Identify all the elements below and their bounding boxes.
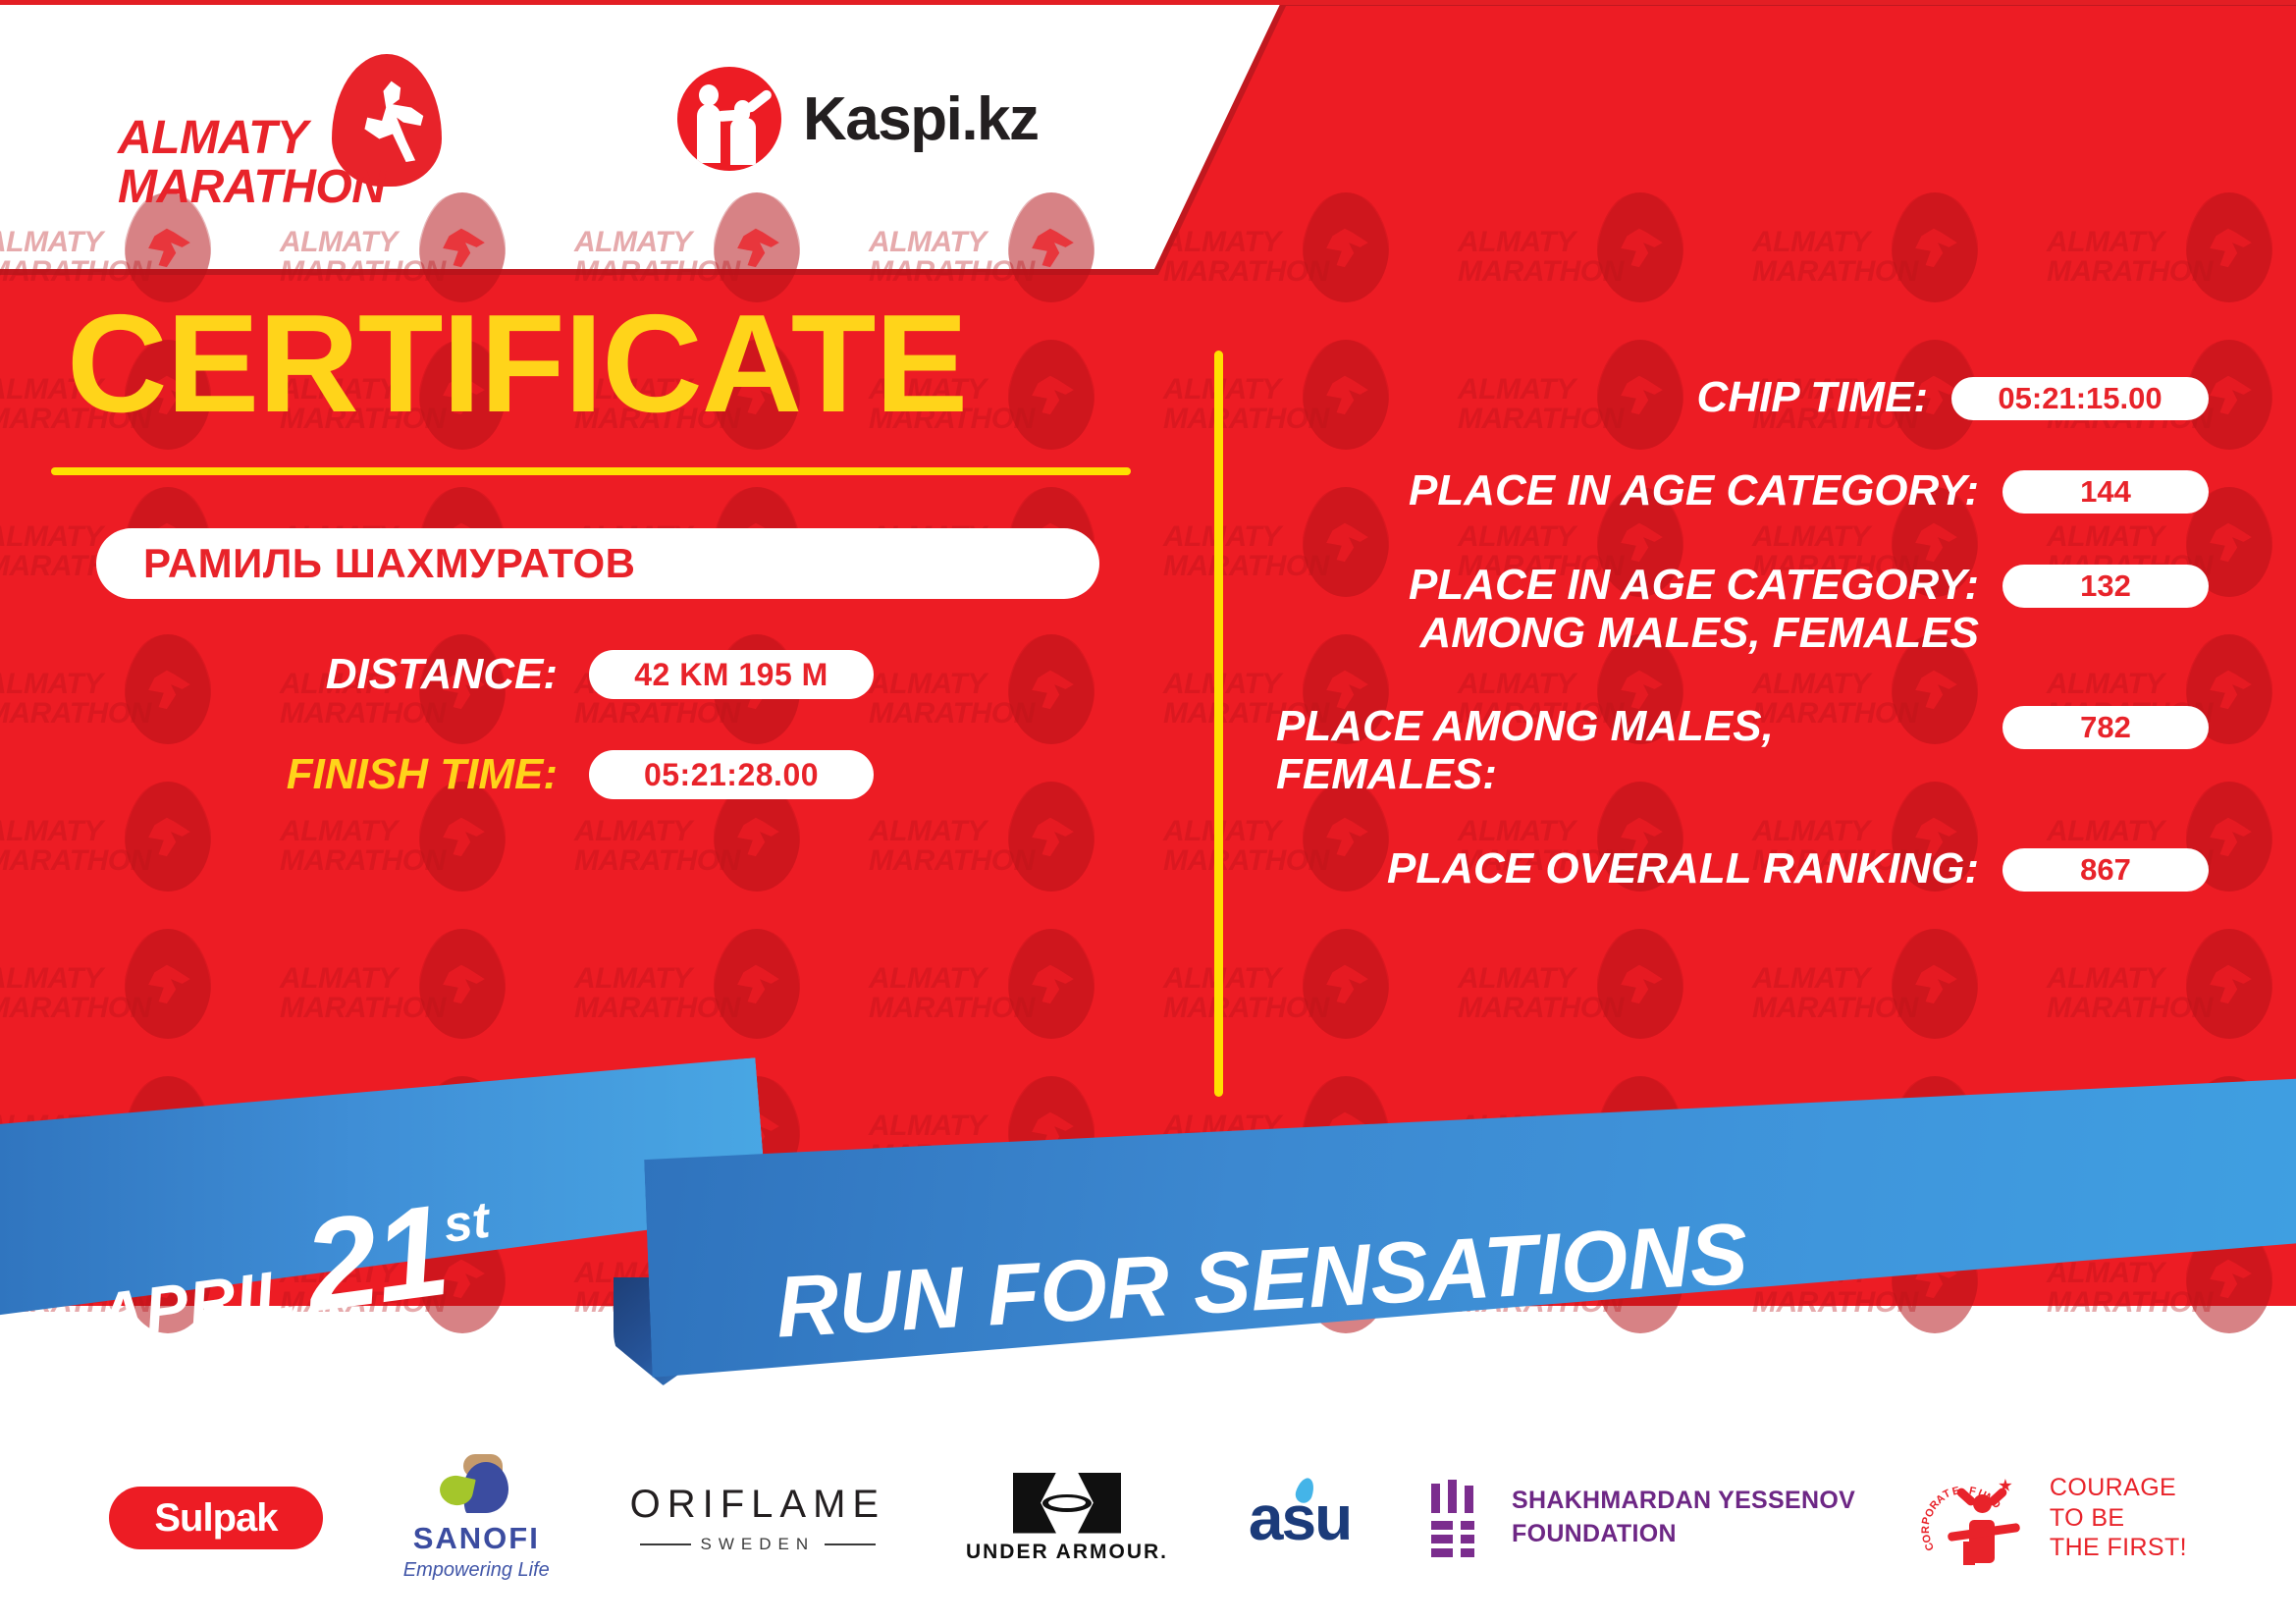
kaspi-logo: Kaspi.kz bbox=[677, 67, 1039, 171]
ym-block-1 bbox=[1431, 1521, 1453, 1530]
under-armour-wordmark: UNDER ARMOUR. bbox=[966, 1541, 1168, 1564]
kaspi-wordmark: Kaspi.kz bbox=[803, 84, 1039, 154]
distance-row: DISTANCE: 42 KM 195 M bbox=[0, 650, 1178, 699]
under-armour-logo bbox=[1013, 1473, 1121, 1534]
place-age-category-row: PLACE IN AGE CATEGORY: 144 bbox=[1276, 466, 2209, 514]
label-line-2: FEMALES: bbox=[1276, 750, 1497, 798]
almaty-marathon-line1: ALMATY bbox=[118, 111, 307, 165]
courage-wordmark: COURAGE TO BE THE FIRST! bbox=[2050, 1473, 2187, 1563]
asu-logo: asu bbox=[1249, 1482, 1351, 1554]
sanofi-logo bbox=[434, 1454, 518, 1515]
place-overall-label: PLACE OVERALL RANKING: bbox=[1276, 844, 2002, 893]
place-age-category-gender-row: PLACE IN AGE CATEGORY: AMONG MALES, FEMA… bbox=[1276, 561, 2209, 658]
ym-bar-3 bbox=[1465, 1486, 1473, 1513]
courage-line-3: THE FIRST! bbox=[2050, 1534, 2187, 1561]
place-among-gender-row: PLACE AMONG MALES, FEMALES: 782 bbox=[1276, 702, 2209, 799]
ym-bar-1 bbox=[1431, 1484, 1440, 1513]
ym-block-5 bbox=[1431, 1548, 1453, 1557]
sanofi-tagline: Empowering Life bbox=[403, 1559, 550, 1582]
sponsor-bar: Sulpak SANOFI Empowering Life ORIFLAME S… bbox=[0, 1412, 2296, 1624]
results-column: CHIP TIME: 05:21:15.00 PLACE IN AGE CATE… bbox=[1276, 373, 2209, 938]
arc-letter: O bbox=[1920, 1533, 1934, 1543]
kaspi-child-body bbox=[730, 118, 756, 165]
sponsor-yessenov-foundation: SHAKHMARDAN YESSENOV FOUNDATION bbox=[1431, 1480, 1855, 1556]
place-age-category-gender-label: PLACE IN AGE CATEGORY: AMONG MALES, FEMA… bbox=[1276, 561, 2002, 658]
sponsor-asu: asu bbox=[1249, 1482, 1351, 1554]
finish-time-row: FINISH TIME: 05:21:28.00 bbox=[0, 750, 1178, 799]
yessenov-wordmark: SHAKHMARDAN YESSENOV FOUNDATION bbox=[1512, 1485, 1855, 1551]
label-line-2: AMONG MALES, FEMALES bbox=[1419, 609, 1979, 657]
event-day-ordinal: st bbox=[440, 1191, 493, 1256]
column-divider bbox=[1214, 351, 1223, 1097]
label-line-1: PLACE IN AGE CATEGORY: bbox=[1409, 561, 1979, 609]
left-column: CERTIFICATE РАМИЛЬ ШАХМУРАТОВ DISTANCE: … bbox=[0, 295, 1178, 799]
chip-time-row: CHIP TIME: 05:21:15.00 bbox=[1276, 373, 2209, 421]
sanofi-wordmark: SANOFI bbox=[413, 1521, 540, 1556]
sponsor-sulpak: Sulpak bbox=[109, 1487, 323, 1549]
athlete-name-field: РАМИЛЬ ШАХМУРАТОВ bbox=[96, 528, 1099, 599]
ua-center-hole bbox=[1048, 1497, 1086, 1508]
sponsor-sanofi: SANOFI Empowering Life bbox=[403, 1454, 550, 1582]
place-age-category-value: 144 bbox=[2002, 470, 2209, 514]
arc-letter: R bbox=[1920, 1526, 1932, 1534]
kaspi-child-arm bbox=[744, 88, 774, 114]
ym-block-2 bbox=[1461, 1521, 1474, 1530]
yessenov-line-1: SHAKHMARDAN YESSENOV bbox=[1512, 1487, 1855, 1514]
runner-figure-icon bbox=[359, 80, 426, 162]
courage-head bbox=[1973, 1494, 1992, 1513]
sponsor-under-armour: UNDER ARMOUR. bbox=[966, 1473, 1168, 1564]
title-underline bbox=[51, 467, 1131, 475]
place-overall-row: PLACE OVERALL RANKING: 867 bbox=[1276, 844, 2209, 893]
event-ribbon: APRIL 21 st RUN FOR SENSATIONS bbox=[0, 1085, 2296, 1409]
ym-bar-2 bbox=[1448, 1480, 1457, 1513]
top-red-rule bbox=[0, 0, 2296, 5]
ym-block-3 bbox=[1431, 1535, 1453, 1543]
place-age-category-gender-value: 132 bbox=[2002, 565, 2209, 608]
place-age-category-label: PLACE IN AGE CATEGORY: bbox=[1276, 466, 2002, 514]
distance-value: 42 KM 195 M bbox=[589, 650, 874, 699]
distance-label: DISTANCE: bbox=[0, 650, 589, 699]
place-among-gender-value: 782 bbox=[2002, 706, 2209, 749]
kaspi-people-circle-icon bbox=[677, 67, 781, 171]
almaty-marathon-line2: MARATHON bbox=[118, 160, 385, 214]
certificate-page: ALMATYMARATHONALMATYMARATHONALMATYMARATH… bbox=[0, 0, 2296, 1624]
finish-time-value: 05:21:28.00 bbox=[589, 750, 874, 799]
chip-time-label: CHIP TIME: bbox=[1276, 373, 1951, 421]
oriflame-rule-left bbox=[640, 1543, 691, 1545]
chip-time-value: 05:21:15.00 bbox=[1951, 377, 2209, 420]
sulpak-logo: Sulpak bbox=[109, 1487, 323, 1549]
almaty-marathon-logo: ALMATY MARATHON bbox=[118, 54, 442, 211]
finish-time-label: FINISH TIME: bbox=[0, 750, 589, 799]
place-overall-value: 867 bbox=[2002, 848, 2209, 892]
oriflame-wordmark: ORIFLAME bbox=[630, 1483, 885, 1527]
courage-line-2: TO BE bbox=[2050, 1504, 2125, 1532]
yessenov-foundation-logo bbox=[1431, 1480, 1488, 1556]
athlete-name-value: РАМИЛЬ ШАХМУРАТОВ bbox=[143, 540, 636, 587]
courage-line-1: COURAGE bbox=[2050, 1474, 2176, 1501]
ym-block-4 bbox=[1461, 1535, 1474, 1543]
sponsor-courage-fund: CORPORATE FUND COURAGE TO BE THE FIRST! bbox=[1936, 1473, 2187, 1563]
oriflame-tagline: SWEDEN bbox=[701, 1535, 816, 1554]
ym-block-6 bbox=[1461, 1548, 1474, 1557]
courage-leg bbox=[1963, 1542, 1975, 1565]
event-month: APRIL bbox=[93, 1254, 300, 1354]
courage-to-be-the-first-logo: CORPORATE FUND bbox=[1936, 1473, 2034, 1563]
kaspi-adult-head bbox=[699, 84, 719, 106]
event-day: 21 bbox=[298, 1192, 453, 1326]
sponsor-oriflame: ORIFLAME SWEDEN bbox=[630, 1483, 885, 1554]
place-among-gender-label: PLACE AMONG MALES, FEMALES: bbox=[1276, 702, 2002, 799]
page-title: CERTIFICATE bbox=[67, 295, 1178, 434]
oriflame-rule-right bbox=[825, 1543, 876, 1545]
header: ALMATY MARATHON Kaspi.kz bbox=[0, 0, 1296, 275]
yessenov-line-2: FOUNDATION bbox=[1512, 1520, 1677, 1547]
label-line-1: PLACE AMONG MALES, bbox=[1276, 702, 1774, 750]
oriflame-sub: SWEDEN bbox=[640, 1535, 877, 1554]
